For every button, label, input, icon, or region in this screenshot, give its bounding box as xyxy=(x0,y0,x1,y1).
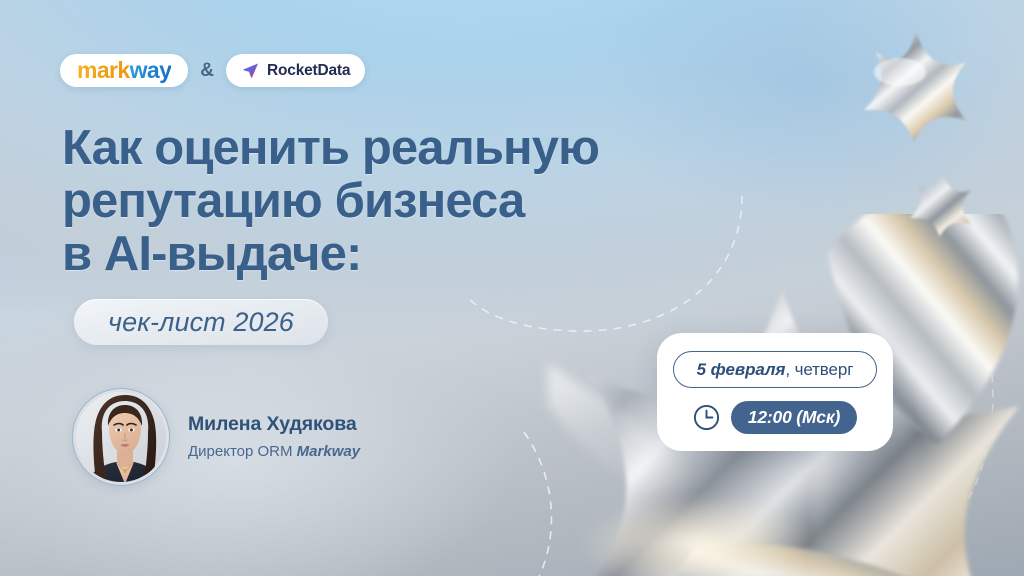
logo-bar: markway & RocketData xyxy=(60,54,365,87)
rocketdata-logo-pill[interactable]: RocketData xyxy=(226,54,365,87)
clock-icon xyxy=(693,404,720,431)
speaker-role: Директор ORM Markway xyxy=(188,443,360,460)
event-date-text: 5 февраля, четверг xyxy=(697,360,854,380)
star-top-specular xyxy=(874,58,926,86)
event-time-pill: 12:00 (Мск) xyxy=(731,401,857,434)
page-title: Как оценить реальную репутацию бизнеса в… xyxy=(62,122,762,281)
markway-logo-pill[interactable]: markway xyxy=(60,54,188,87)
event-time-row: 12:00 (Мск) xyxy=(693,401,857,434)
chrome-star-small xyxy=(904,166,978,240)
event-date-pill: 5 февраля, четверг xyxy=(673,351,877,388)
poster-canvas: markway & RocketData Как xyxy=(0,0,1024,576)
paper-plane-icon xyxy=(241,61,260,80)
headline-line-3: в AI-выдаче: xyxy=(62,228,762,281)
speaker-role-company: Markway xyxy=(297,443,360,460)
event-date-weekday: , четверг xyxy=(785,360,853,379)
avatar xyxy=(72,388,170,486)
markway-logo-way: way xyxy=(130,57,172,83)
subtitle-text: чек-лист 2026 xyxy=(108,307,294,338)
rocketdata-logo-text: RocketData xyxy=(267,62,350,80)
event-datetime-card: 5 февраля, четверг 12:00 (Мск) xyxy=(657,333,893,451)
markway-logo-mark: mark xyxy=(77,57,130,83)
headline-line-1: Как оценить реальную xyxy=(62,122,762,175)
star-top-body xyxy=(864,30,968,142)
subtitle-pill: чек-лист 2026 xyxy=(74,299,328,345)
chrome-star-top-right xyxy=(852,22,980,150)
speaker-role-prefix: Директор ORM xyxy=(188,443,297,460)
speaker-block: Милена Худякова Директор ORM Markway xyxy=(72,388,360,486)
speaker-text: Милена Худякова Директор ORM Markway xyxy=(188,413,360,462)
brand-separator: & xyxy=(200,60,214,82)
event-date-day: 5 февраля xyxy=(697,360,786,379)
speaker-name: Милена Худякова xyxy=(188,413,360,436)
event-time-text: 12:00 (Мск) xyxy=(748,407,840,428)
markway-logo-text: markway xyxy=(77,59,171,82)
avatar-photo xyxy=(76,392,166,482)
headline-line-2: репутацию бизнеса xyxy=(62,175,762,228)
star-small-body xyxy=(910,171,972,237)
